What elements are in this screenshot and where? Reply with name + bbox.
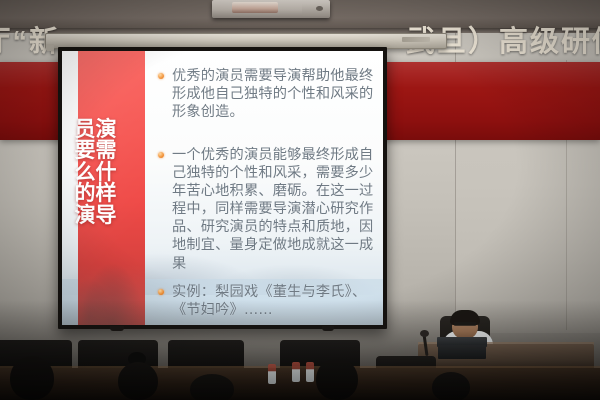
title-char: 的: [75, 183, 96, 204]
title-char: 么: [75, 162, 96, 183]
microphone-icon: [420, 330, 429, 337]
slide-body: 优秀的演员需要导演帮助他最终形成他自己独特的个性和风采的形象创造。 一个优秀的演…: [158, 61, 378, 321]
audience-silhouette: [432, 372, 470, 400]
title-char: 样: [96, 183, 117, 204]
audience-silhouette: [316, 358, 358, 400]
audience-silhouette: [118, 362, 158, 400]
slide-bullet-1-text: 优秀的演员需要导演帮助他最终形成他自己独特的个性和风采的形象创造。: [172, 67, 378, 122]
presentation-slide: 演 需 什 样 导 员 要 么 的 演 优秀的演员需要导演帮助他最终形成他自己独…: [62, 51, 383, 325]
slide-bullet-2: 一个优秀的演员能够最终形成自己独特的个性和风采，需要多少年苦心地积累、磨砺。在这…: [158, 146, 378, 273]
title-char: 演: [75, 205, 96, 226]
slide-bullet-3-text: 实例：梨园戏《董生与李氏》、《节妇吟》……: [172, 283, 378, 319]
water-bottle: [268, 364, 276, 384]
laptop-icon: [438, 345, 486, 359]
title-char: 要: [75, 140, 96, 161]
slide-title-vertical: 演 需 什 样 导 员 要 么 的 演: [62, 119, 129, 279]
lecture-hall-photo: 厅“新 武旦）高级研修班 演 需 什 样 导 员 要 么: [0, 0, 600, 400]
audience-silhouette: [10, 356, 54, 400]
screen-brand-logo: [402, 37, 430, 42]
water-bottle: [306, 362, 314, 382]
slide-bullet-2-text: 一个优秀的演员能够最终形成自己独特的个性和风采，需要多少年苦心地积累、磨砺。在这…: [172, 146, 378, 273]
projector-lens-icon: [232, 2, 278, 13]
slide-title-column-1: 演 需 什 样 导: [96, 119, 117, 279]
slide-title-column-2: 员 要 么 的 演: [75, 119, 96, 279]
bullet-icon: [158, 73, 164, 79]
audience-desk: [0, 368, 600, 400]
audience-silhouette: [190, 374, 234, 400]
water-bottle: [292, 362, 300, 382]
presenter-glasses: [454, 322, 476, 326]
projector-mount-hole: [316, 6, 323, 11]
slide-bullet-3: 实例：梨园戏《董生与李氏》、《节妇吟》……: [158, 283, 378, 319]
title-char: 导: [96, 205, 117, 226]
bullet-icon: [158, 289, 164, 295]
bullet-icon: [158, 152, 164, 158]
screen-case-tab: [46, 44, 54, 51]
slide-bullet-1: 优秀的演员需要导演帮助他最终形成他自己独特的个性和风采的形象创造。: [158, 67, 378, 122]
title-char: 什: [96, 162, 117, 183]
title-char: 需: [96, 140, 117, 161]
